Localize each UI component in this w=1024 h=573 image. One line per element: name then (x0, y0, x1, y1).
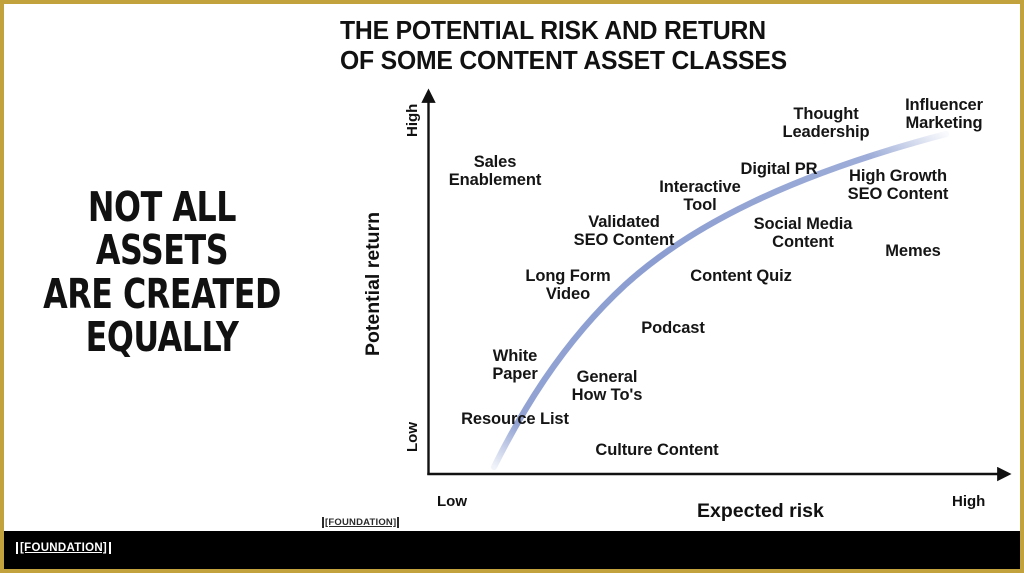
data-label-thought-leadership: Thought Leadership (782, 105, 869, 142)
border-left (0, 0, 4, 573)
slide-canvas: NOT ALL ASSETS ARE CREATED EQUALLY THE P… (0, 0, 1024, 573)
data-label-sales-enablement: Sales Enablement (449, 153, 542, 190)
border-right (1020, 0, 1024, 573)
x-axis-tick-high: High (952, 493, 985, 510)
data-label-interactive-tool: Interactive Tool (659, 178, 740, 215)
data-label-culture-content: Culture Content (595, 441, 718, 459)
watermark-inline: [FOUNDATION] (322, 517, 399, 528)
data-label-memes: Memes (885, 242, 940, 260)
data-label-resource-list: Resource List (461, 410, 569, 428)
x-axis-label: Expected risk (697, 500, 824, 523)
chart-axes-and-curve (0, 0, 1024, 573)
y-axis-tick-low: Low (404, 422, 421, 452)
data-label-long-form-video: Long Form Video (525, 267, 610, 304)
border-top (0, 0, 1024, 4)
footer-logo: [FOUNDATION] (16, 542, 111, 554)
data-label-high-growth-seo-content: High Growth SEO Content (848, 167, 949, 204)
data-label-white-paper: White Paper (492, 347, 537, 384)
y-axis-label: Potential return (362, 212, 385, 356)
data-label-digital-pr: Digital PR (741, 160, 818, 178)
data-label-social-media-content: Social Media Content (754, 215, 853, 252)
chart-plot-area: High Low Potential return Low High Expec… (0, 0, 1024, 573)
data-label-influencer-marketing: Influencer Marketing (905, 96, 983, 133)
footer-bar: [FOUNDATION] (4, 531, 1020, 569)
data-label-validated-seo-content: Validated SEO Content (574, 213, 675, 250)
data-label-general-how-tos: General How To's (572, 368, 643, 405)
x-axis-tick-low: Low (437, 493, 467, 510)
y-axis-tick-high: High (404, 104, 421, 137)
border-bottom (0, 569, 1024, 573)
data-label-podcast: Podcast (641, 319, 705, 337)
data-label-content-quiz: Content Quiz (690, 267, 791, 285)
